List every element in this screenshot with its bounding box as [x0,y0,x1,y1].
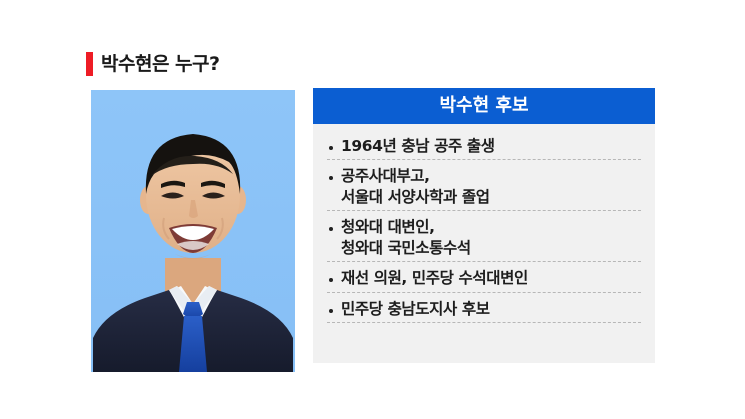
page-title-text: 박수현은 누구? [101,55,220,74]
list-item-text: 공주사대부고, 서울대 서양사학과 졸업 [341,166,490,207]
list-item-line-1: 재선 의원, 민주당 수석대변인 [341,269,528,287]
page-title: 박수현은 누구? [86,52,220,76]
list-item-line-1: 1964년 충남 공주 출생 [341,137,495,155]
list-item: 재선 의원, 민주당 수석대변인 [327,268,641,292]
list-item-line-2: 서울대 서양사학과 졸업 [341,187,490,207]
list-item-text: 1964년 충남 공주 출생 [341,136,495,156]
bullet-dot-icon [329,176,333,180]
bullet-dot-icon [329,309,333,313]
bullet-dot-icon [329,146,333,150]
list-item: 공주사대부고, 서울대 서양사학과 졸업 [327,166,641,211]
list-item-text: 청와대 대변인, 청와대 국민소통수석 [341,217,471,258]
bullet-dot-icon [329,227,333,231]
bullet-dot-icon [329,278,333,282]
list-item: 1964년 충남 공주 출생 [327,136,641,160]
list-item: 민주당 충남도지사 후보 [327,299,641,323]
list-item-text: 재선 의원, 민주당 수석대변인 [341,268,528,288]
list-item-text: 민주당 충남도지사 후보 [341,299,490,319]
list-item-line-2: 청와대 국민소통수석 [341,238,471,258]
list-item-line-1: 청와대 대변인, [341,218,435,236]
list-item-line-1: 민주당 충남도지사 후보 [341,300,490,318]
candidate-info-panel: 박수현 후보 1964년 충남 공주 출생 공주사대부고, 서울대 서양사학과 … [313,88,655,363]
panel-header-title: 박수현 후보 [439,97,528,115]
list-item-line-1: 공주사대부고, [341,167,430,185]
red-accent-bar [86,52,93,76]
candidate-portrait [91,90,295,372]
panel-header: 박수현 후보 [313,88,655,124]
infographic-page: 박수현은 누구? [0,0,745,419]
list-item: 청와대 대변인, 청와대 국민소통수석 [327,217,641,262]
candidate-facts-list: 1964년 충남 공주 출생 공주사대부고, 서울대 서양사학과 졸업 청와대 … [313,124,655,323]
